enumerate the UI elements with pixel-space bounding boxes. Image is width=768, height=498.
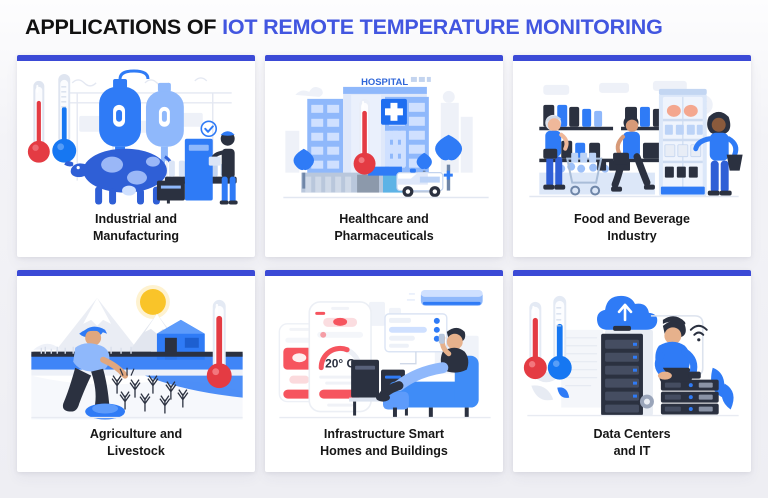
title-part-two: IOT REMOTE TEMPERATURE MONITORING — [222, 15, 663, 39]
card-data-centers-it[interactable]: Data Centers and IT — [513, 270, 751, 472]
background-blocks-icon — [79, 113, 203, 133]
card-title-industrial: Industrial and Manufacturing — [17, 211, 255, 258]
red-thermometer-icon — [207, 300, 232, 388]
illustration-industrial — [17, 61, 255, 211]
air-conditioner-icon — [407, 290, 483, 306]
card-title-line2: Homes and Buildings — [275, 443, 493, 460]
red-thermometer-icon — [28, 81, 50, 163]
card-title-data-centers: Data Centers and IT — [513, 426, 751, 473]
card-title-line1: Food and Beverage — [523, 211, 741, 228]
card-food-beverage-industry[interactable]: Food and Beverage Industry — [513, 55, 751, 257]
ambulance-icon — [397, 169, 453, 197]
card-title-agriculture: Agriculture and Livestock — [17, 426, 255, 473]
wifi-icon — [691, 326, 707, 342]
basket-icon — [727, 155, 743, 171]
card-title-line2: Pharmaceuticals — [275, 228, 493, 245]
card-grid: Industrial and Manufacturing — [17, 55, 751, 472]
red-thermometer-icon — [524, 302, 547, 379]
card-title-line1: Industrial and — [27, 211, 245, 228]
sun-icon — [136, 285, 170, 319]
hospital-sign-label: HOSPITAL — [361, 77, 408, 88]
card-title-line2: and IT — [523, 443, 741, 460]
engineer-icon — [655, 316, 700, 381]
card-industrial-manufacturing[interactable]: Industrial and Manufacturing — [17, 55, 255, 257]
card-title-food-beverage: Food and Beverage Industry — [513, 211, 751, 258]
server-rack-icon — [601, 326, 654, 416]
card-infrastructure-smart-homes[interactable]: 20° C — [265, 270, 503, 472]
medical-cross-icon — [381, 99, 407, 125]
card-title-line2: Livestock — [27, 443, 245, 460]
card-title-smart-homes: Infrastructure Smart Homes and Buildings — [265, 426, 503, 473]
checkmark-badge-icon — [201, 121, 216, 136]
server-rack-icon — [661, 380, 719, 415]
illustration-data-center — [513, 276, 751, 426]
card-title-line2: Manufacturing — [27, 228, 245, 245]
card-title-healthcare: Healthcare and Pharmaceuticals — [265, 211, 503, 258]
storage-tank-icon — [99, 71, 148, 159]
card-title-line1: Agriculture and — [27, 426, 245, 443]
card-title-line1: Data Centers — [523, 426, 741, 443]
title-part-one: APPLICATIONS OF — [25, 15, 216, 39]
blue-thermometer-icon — [52, 74, 76, 163]
phone-temperature-label: 20° C — [325, 357, 355, 371]
card-agriculture-livestock[interactable]: Agriculture and Livestock — [17, 270, 255, 472]
illustration-food-beverage — [513, 61, 751, 211]
illustration-agriculture — [17, 276, 255, 426]
illustration-healthcare: HOSPITAL — [265, 61, 503, 211]
card-healthcare-pharmaceuticals[interactable]: HOSPITAL — [265, 55, 503, 257]
card-title-line1: Healthcare and — [275, 211, 493, 228]
card-title-line1: Infrastructure Smart — [275, 426, 493, 443]
infographic-page: APPLICATIONS OF IOT REMOTE TEMPERATURE M… — [0, 0, 768, 498]
cow-icon — [64, 149, 172, 205]
card-title-line2: Industry — [523, 228, 741, 245]
page-title: APPLICATIONS OF IOT REMOTE TEMPERATURE M… — [25, 8, 745, 46]
illustration-smart-home: 20° C — [265, 276, 503, 426]
